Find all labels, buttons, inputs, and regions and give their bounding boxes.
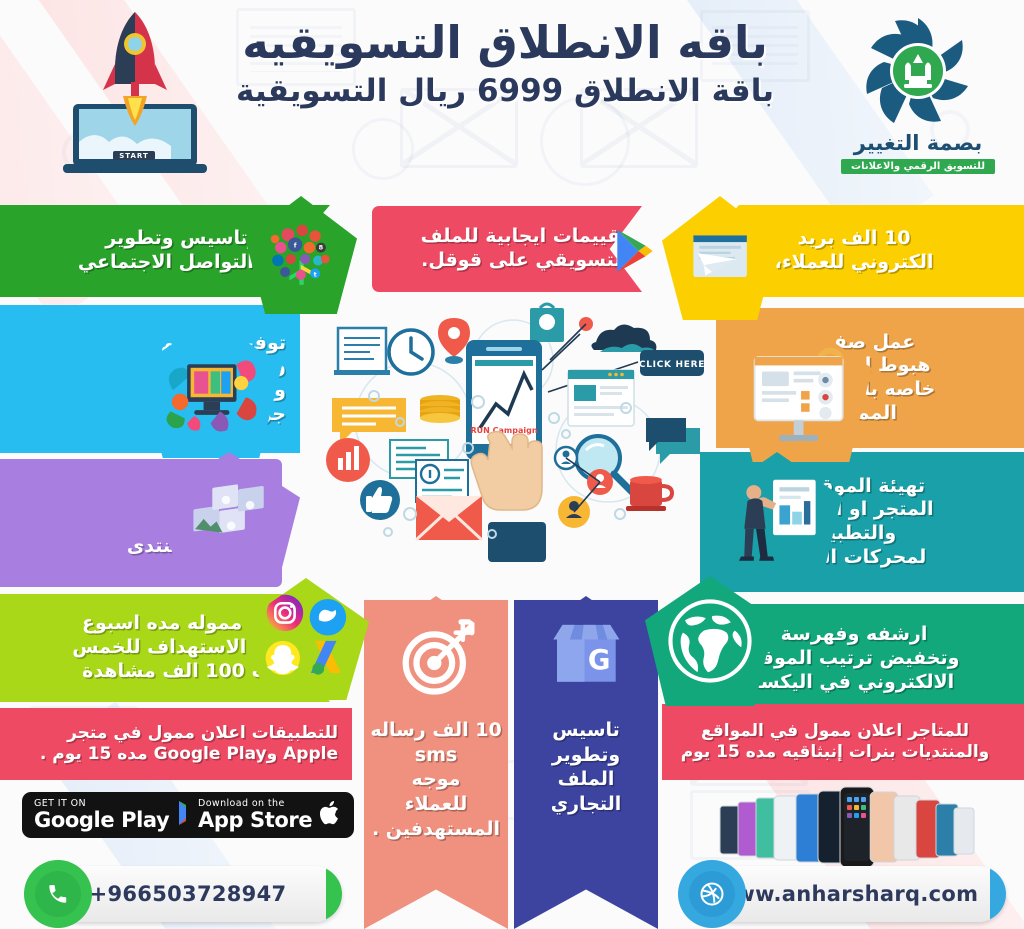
bar-chart-icon: [326, 438, 370, 482]
page-title: باقه الانطلاق التسويقيه: [205, 18, 805, 68]
google-play-triangle-icon: [612, 228, 658, 274]
apple-logo-icon: [320, 800, 342, 830]
right-card-store-ads[interactable]: للمتاجر اعلان ممول في المواقع والمنتديات…: [662, 704, 1024, 780]
rocket-launch-icon: START: [45, 6, 225, 186]
clock-icon: [389, 330, 433, 374]
page-subtitle: باقة الانطلاق 6999 ريال التسويقية: [205, 74, 805, 110]
badge-big-text: App Store: [198, 809, 312, 831]
app-store-badge[interactable]: Download on the App Store: [186, 792, 354, 838]
page-header: START باقه الانطلاق التسويقيه باقة الانط…: [0, 0, 1024, 192]
card-text: للمتاجر اعلان ممول في المواقع والمنتديات…: [662, 721, 1024, 764]
email-at-icon: [416, 460, 468, 502]
card-text: للتطبيقات اعلان ممول في متجر Apple وGoog…: [0, 723, 352, 766]
website-url: www.anharsharq.com: [716, 882, 997, 906]
svg-text:CLICK HERE: CLICK HERE: [639, 360, 705, 370]
svg-text:G: G: [588, 644, 611, 676]
phone-number: +966503728947: [90, 882, 305, 906]
cloud-icon: [591, 324, 656, 352]
brand-name: بصمة التغيير: [834, 133, 1002, 154]
top-center-card-reviews[interactable]: تقييمات ايجابية للملف التسويقي على قوقل.: [372, 206, 642, 292]
coins-icon: [420, 395, 460, 423]
contact-bar-cap: [990, 866, 1006, 922]
card-text: تاسيس وتطوير الملف التجاري: [514, 718, 658, 817]
card-text: 10 الف رساله sms موجه للعملاء المستهدفين…: [364, 718, 508, 841]
dribbble-globe-icon: [678, 860, 746, 928]
brand-tagline: للتسويق الرقمي والاعلانات: [841, 159, 995, 174]
thumbs-up-icon: [360, 480, 400, 520]
shopping-bag-icon: [530, 304, 564, 342]
click-here-button: CLICK HERE: [639, 350, 705, 376]
title-block: باقه الانطلاق التسويقيه باقة الانطلاق 69…: [205, 18, 805, 110]
google-play-badge[interactable]: GET IT ON Google Play: [22, 792, 213, 838]
card-text: تقييمات ايجابية للملف التسويقي على قوقل.: [372, 225, 642, 273]
browser-window-icon: [568, 370, 634, 426]
contact-bar: www.anharsharq.com: [706, 866, 1006, 922]
location-pin-icon: [438, 318, 470, 364]
digital-marketing-illustration: CLICK HERE RUN Campaign: [318, 300, 708, 600]
laptop-start-label: START: [119, 152, 149, 160]
chat-bubble-icon: [646, 418, 700, 464]
contact-bar-cap: [326, 866, 342, 922]
svg-text:RUN Campaign: RUN Campaign: [470, 426, 537, 435]
chat-bubble-icon: [332, 398, 406, 444]
swirl-mosque-logo-icon: [861, 14, 976, 129]
brand-logo: بصمة التغيير للتسويق الرقمي والاعلانات: [834, 14, 1002, 179]
phones-lineup-image: [712, 786, 982, 868]
envelope-icon: [416, 496, 482, 540]
svg-text:t: t: [314, 270, 317, 278]
whatsapp-contact-pill[interactable]: +966503728947: [18, 862, 348, 926]
badge-big-text: Google Play: [34, 809, 169, 831]
whatsapp-phone-icon: [24, 860, 92, 928]
contact-bar: +966503728947: [52, 866, 342, 922]
left-card-app-store-ads[interactable]: للتطبيقات اعلان ممول في متجر Apple وGoog…: [0, 708, 352, 780]
website-contact-pill[interactable]: www.anharsharq.com: [672, 862, 1008, 926]
svg-text:8: 8: [319, 244, 324, 252]
coffee-cup-icon: [626, 476, 672, 511]
document-icon: [334, 328, 390, 375]
svg-text:f: f: [294, 242, 297, 250]
